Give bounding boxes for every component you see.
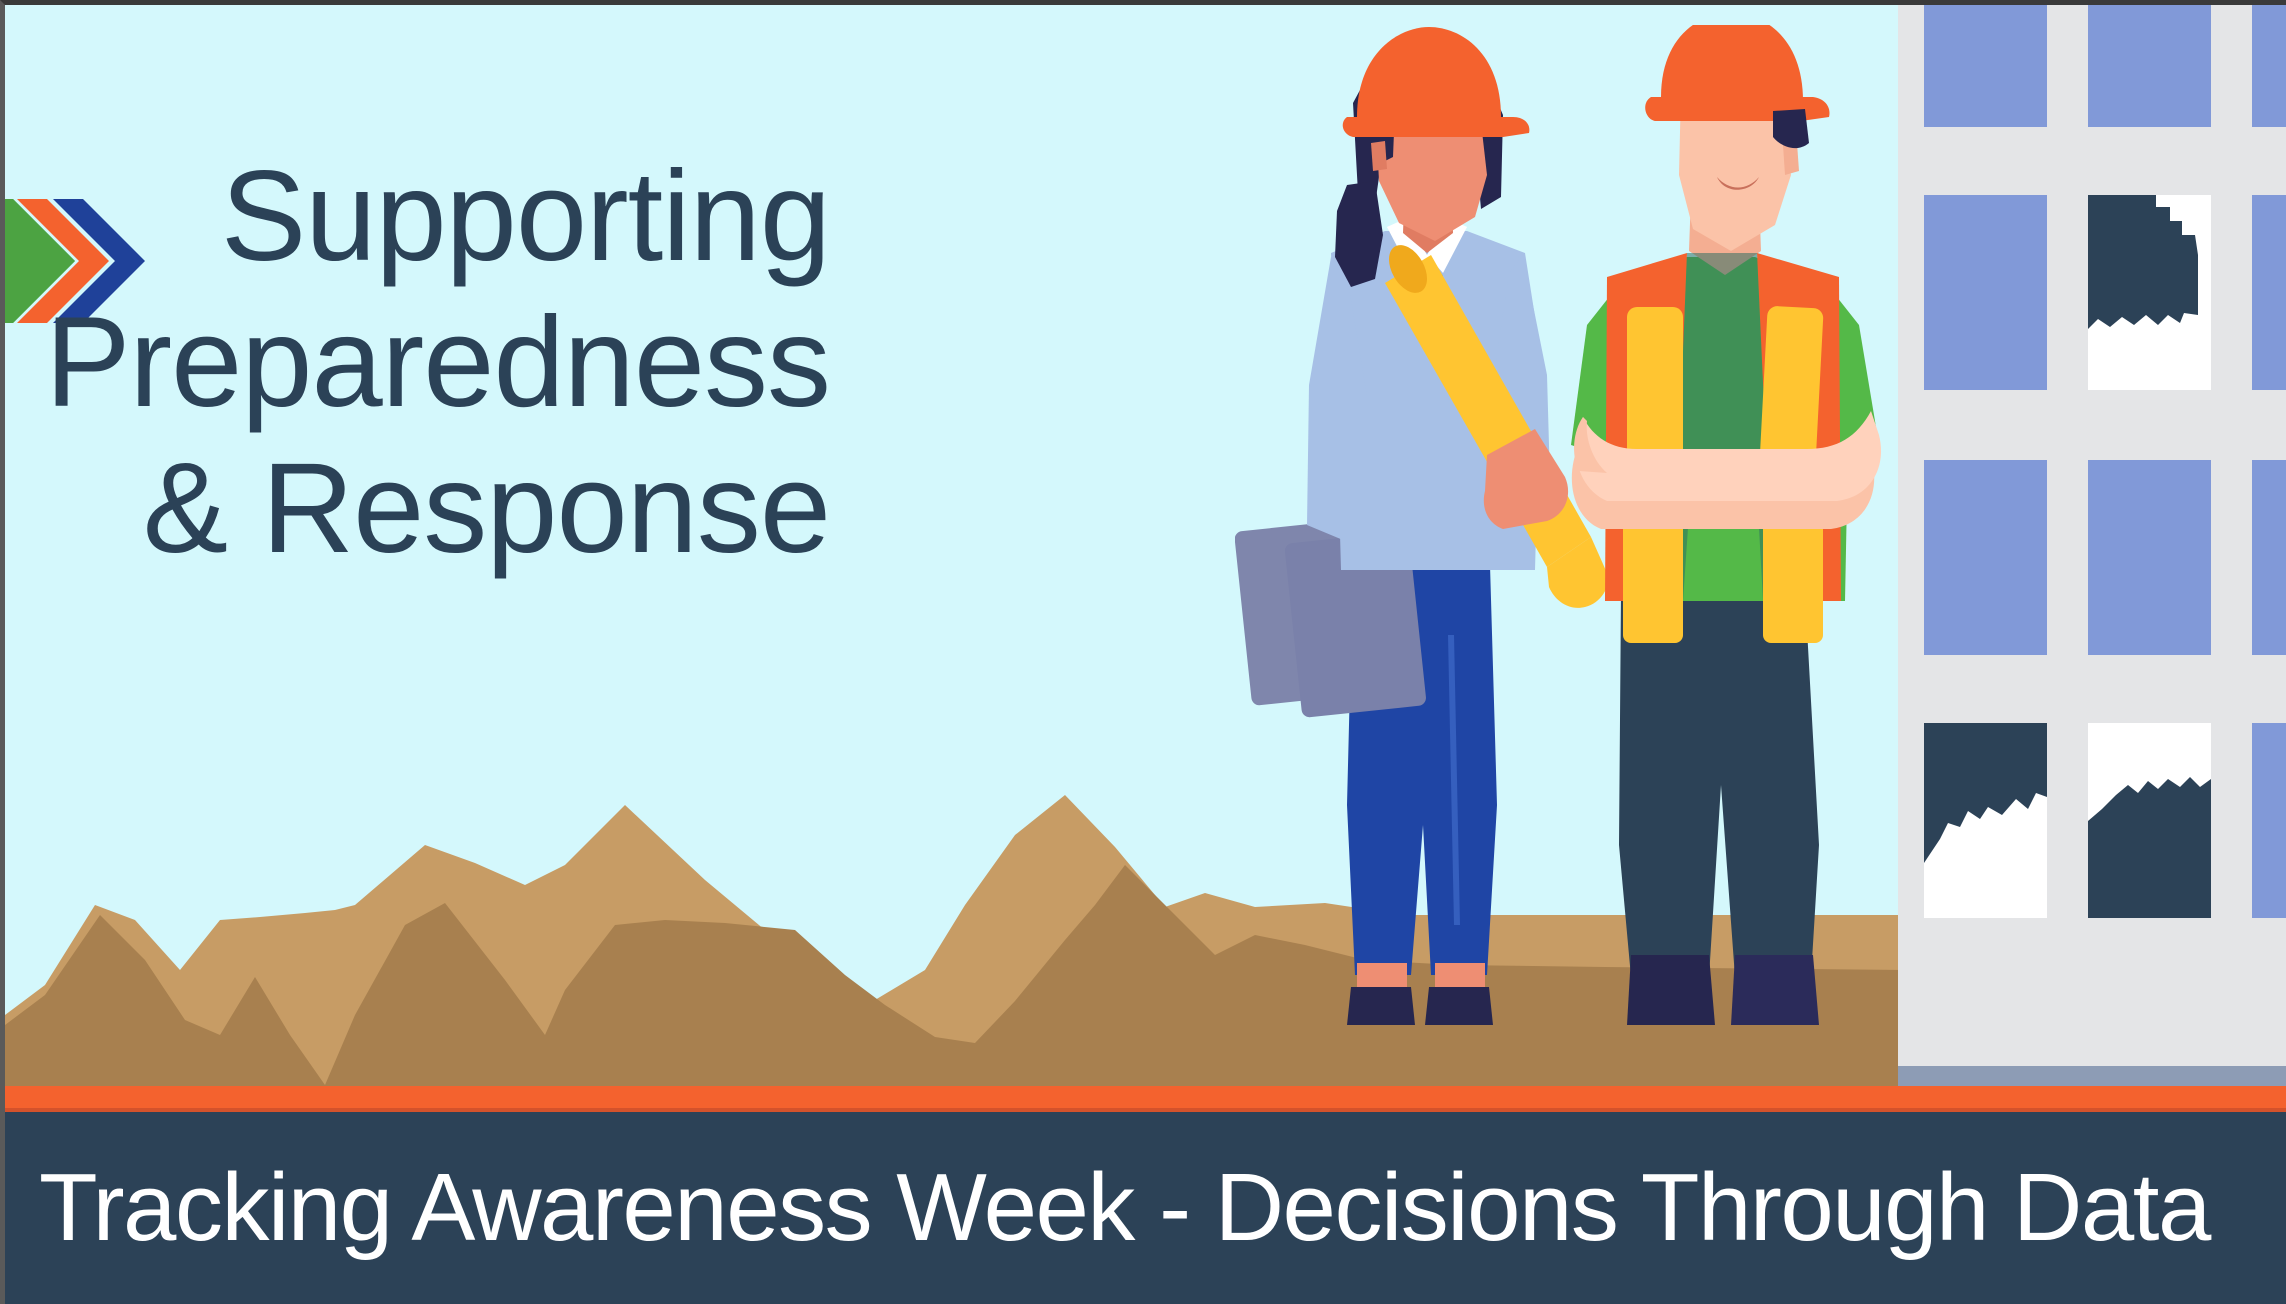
broken-glass-shape-r2c2 xyxy=(2088,195,2211,390)
window-r1c2 xyxy=(2088,0,2211,127)
vest-stripe-lower-left xyxy=(1623,513,1683,643)
worker-illustration-group xyxy=(1235,25,1975,1090)
female-shoe-right xyxy=(1425,987,1493,1025)
female-helmet xyxy=(1357,27,1501,125)
headline-line-2: Preparedness xyxy=(5,299,830,427)
window-r2c2-broken xyxy=(2088,195,2211,390)
window-r1c3 xyxy=(2252,0,2286,127)
window-r4c2-broken xyxy=(2088,723,2211,918)
page-title: Supporting Preparedness & Response xyxy=(5,153,1205,573)
window-r3c3 xyxy=(2252,460,2286,655)
window-r4c3 xyxy=(2252,723,2286,918)
male-boot-left xyxy=(1627,955,1715,1025)
male-pants xyxy=(1619,593,1819,977)
headline-line-3: & Response xyxy=(5,445,830,573)
female-shoe-left xyxy=(1347,987,1415,1025)
window-r2c3 xyxy=(2252,195,2286,390)
broken-glass-shape-r4c2 xyxy=(2088,723,2211,918)
female-helmet-brim xyxy=(1343,117,1530,137)
promotional-banner-image: Supporting Preparedness & Response Track… xyxy=(0,0,2286,1304)
male-boot-right xyxy=(1731,955,1819,1025)
window-r3c2 xyxy=(2088,460,2211,655)
male-construction-worker xyxy=(1571,25,1881,1025)
vest-stripe-lower-right xyxy=(1763,513,1823,643)
headline-line-1: Supporting xyxy=(5,153,830,281)
banner-title: Tracking Awareness Week - Decisions Thro… xyxy=(5,1160,2210,1256)
female-ear xyxy=(1371,141,1387,171)
female-engineer xyxy=(1235,27,1608,1025)
bottom-banner: Tracking Awareness Week - Decisions Thro… xyxy=(5,1112,2286,1304)
